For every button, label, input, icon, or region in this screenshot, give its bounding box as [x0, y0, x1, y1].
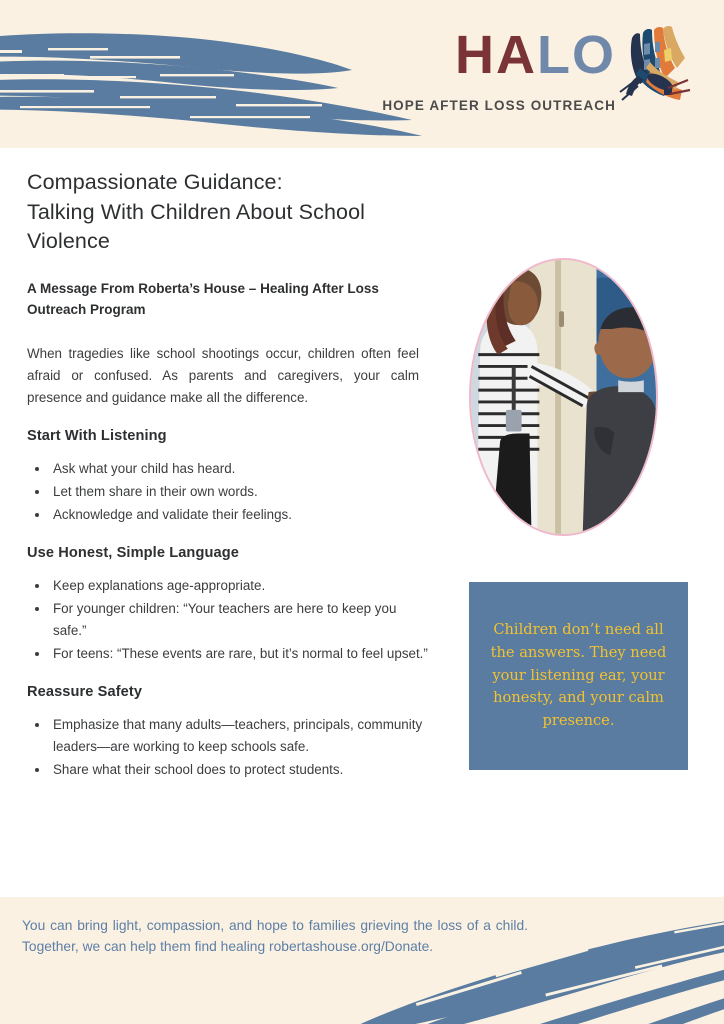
list-item: Let them share in their own words.	[27, 481, 432, 503]
list-item: Acknowledge and validate their feelings.	[27, 504, 432, 526]
section-heading: Use Honest, Simple Language	[27, 545, 432, 561]
list-item: Emphasize that many adults—teachers, pri…	[27, 714, 432, 757]
quote-text: Children don’t need all the answers. The…	[485, 619, 672, 733]
logo-word-ha: HA	[455, 25, 537, 85]
page-title: Compassionate Guidance: Talking With Chi…	[27, 148, 432, 257]
list-item: For younger children: “Your teachers are…	[27, 598, 432, 641]
section-bullet-list: Emphasize that many adults—teachers, pri…	[27, 714, 432, 780]
section-bullet-list: Ask what your child has heard. Let them …	[27, 458, 432, 525]
logo-wordmark: HALO	[455, 28, 616, 82]
photo-adult-comforting-child	[469, 258, 658, 536]
page-title-line-1: Compassionate Guidance:	[27, 170, 283, 194]
flyer-page: HALO HOPE AFTER LOSS OUTREACH	[0, 0, 724, 1024]
section-start-with-listening: Start With Listening Ask what your child…	[27, 428, 432, 525]
main-content: Compassionate Guidance: Talking With Chi…	[0, 148, 724, 897]
photo-image	[471, 260, 656, 534]
footer-message: You can bring light, compassion, and hop…	[22, 915, 528, 958]
section-heading: Start With Listening	[27, 428, 432, 444]
quote-callout-box: Children don’t need all the answers. The…	[469, 582, 688, 770]
halo-logo: HALO HOPE AFTER LOSS OUTREACH	[398, 26, 698, 126]
footer-donate-link[interactable]: robertashouse.org/Donate.	[269, 939, 433, 954]
section-bullet-list: Keep explanations age-appropriate. For y…	[27, 575, 432, 664]
section-use-honest-simple-language: Use Honest, Simple Language Keep explana…	[27, 545, 432, 664]
butterfly-icon	[602, 24, 698, 116]
logo-tagline: HOPE AFTER LOSS OUTREACH	[382, 98, 616, 113]
list-item: Ask what your child has heard.	[27, 458, 432, 480]
intro-paragraph: When tragedies like school shootings occ…	[27, 343, 419, 409]
header-band: HALO HOPE AFTER LOSS OUTREACH	[0, 0, 724, 148]
section-reassure-safety: Reassure Safety Emphasize that many adul…	[27, 684, 432, 780]
list-item: For teens: “These events are rare, but i…	[27, 643, 432, 665]
list-item: Share what their school does to protect …	[27, 759, 432, 781]
page-subtitle: A Message From Roberta’s House – Healing…	[27, 279, 402, 321]
content-left-column: Compassionate Guidance: Talking With Chi…	[27, 148, 432, 781]
page-title-line-2: Talking With Children About School Viole…	[27, 200, 365, 254]
photo-illustration	[471, 260, 656, 534]
brush-stroke-top-icon	[0, 18, 440, 138]
footer-band: You can bring light, compassion, and hop…	[0, 897, 724, 1024]
list-item: Keep explanations age-appropriate.	[27, 575, 432, 597]
section-heading: Reassure Safety	[27, 684, 432, 700]
